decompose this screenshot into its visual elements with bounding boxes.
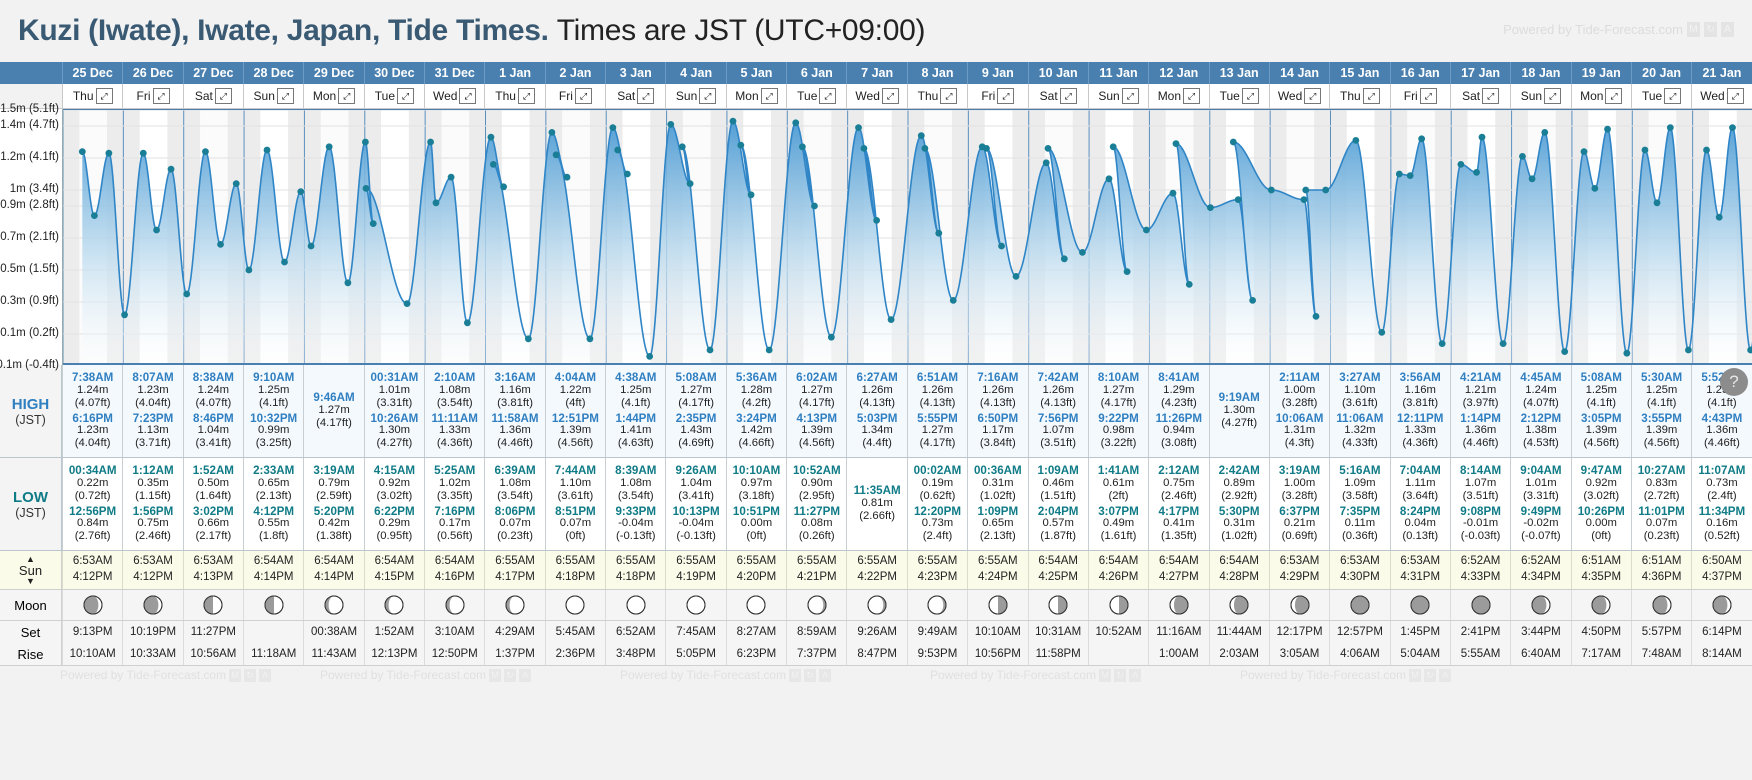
tide-height-ft: (-0.07ft)	[1511, 530, 1570, 543]
moonset-cell: 9:49AM	[907, 621, 967, 643]
moon-phase-icon	[504, 594, 526, 616]
date-cell[interactable]: 9 Jan	[967, 62, 1027, 84]
tide-extreme-point	[873, 217, 880, 224]
sunset-time: 4:35PM	[1572, 570, 1631, 586]
tide-extreme-point	[766, 347, 773, 354]
high-tide-cell: 9:46AM1.27m(4.17ft)	[303, 365, 363, 457]
expand-day-icon[interactable]: ⤢	[1242, 88, 1259, 104]
tide-time: 11:27PM	[787, 505, 846, 518]
day-cell[interactable]: Thu⤢	[1329, 84, 1389, 108]
day-cell[interactable]: Fri⤢	[967, 84, 1027, 108]
sun-cell: 6:54AM4:15PM	[364, 551, 424, 589]
moonrise-cell: 6:23PM	[726, 643, 786, 665]
day-cell[interactable]: Tue⤢	[364, 84, 424, 108]
sun-cell: 6:54AM4:26PM	[1088, 551, 1148, 589]
low-tide-cell: 1:41AM0.61m(2ft)3:07PM0.49m(1.61ft)	[1088, 458, 1148, 550]
tide-height-m: 1.01m	[1511, 477, 1570, 490]
tide-event: 4:21AM1.21m(3.97ft)	[1451, 370, 1510, 410]
moonrise-cell: 5:05PM	[665, 643, 725, 665]
sunrise-time: 6:54AM	[1210, 554, 1269, 570]
date-cell[interactable]: 16 Jan	[1390, 62, 1450, 84]
moon-cell	[303, 590, 363, 620]
tide-height-m: -0.04m	[606, 517, 665, 530]
day-label: Mon	[1580, 89, 1603, 103]
tide-extreme-point	[1207, 204, 1214, 211]
tide-height-m: 1.07m	[1029, 424, 1088, 437]
sunrise-time: 6:54AM	[304, 554, 363, 570]
date-cell[interactable]: 27 Dec	[183, 62, 243, 84]
tide-time: 1:12AM	[123, 464, 182, 477]
tide-event: 9:47AM0.92m(3.02ft)	[1572, 463, 1631, 503]
tide-height-m: 1.24m	[63, 384, 122, 397]
tide-extreme-point	[587, 335, 594, 342]
day-cell[interactable]: Tue⤢	[786, 84, 846, 108]
sun-cell: 6:51AM4:35PM	[1571, 551, 1631, 589]
expand-day-icon[interactable]: ⤢	[277, 88, 294, 104]
tide-height-m: 1.23m	[63, 424, 122, 437]
tide-time: 7:38AM	[63, 371, 122, 384]
tide-event: 1:41AM0.61m(2ft)	[1089, 463, 1148, 503]
high-tide-cell: 2:11AM1.00m(3.28ft)10:06AM1.31m(4.3ft)	[1269, 365, 1329, 457]
day-cell[interactable]: Wed⤢	[1269, 84, 1329, 108]
high-tide-label-unit: (JST)	[15, 413, 46, 427]
moon-phase-icon	[625, 594, 647, 616]
day-cell[interactable]: Mon⤢	[1571, 84, 1631, 108]
moon-phase-icon	[1590, 594, 1612, 616]
tide-height-m: 0.50m	[184, 477, 243, 490]
tide-height-ft: (3.31ft)	[1511, 490, 1570, 503]
date-cell[interactable]: 21 Jan	[1691, 62, 1751, 84]
tide-extreme-point	[609, 124, 616, 131]
low-tide-cell: 6:39AM1.08m(3.54ft)8:06PM0.07m(0.23ft)	[484, 458, 544, 550]
tide-height-ft: (4.1ft)	[244, 397, 303, 410]
expand-day-icon[interactable]: ⤢	[1727, 88, 1744, 104]
tide-height-ft: (4.04ft)	[123, 397, 182, 410]
tide-extreme-point	[1591, 185, 1598, 192]
day-label: Wed	[1278, 89, 1302, 103]
footer-watermark-text: Powered by Tide-Forecast.com	[1240, 668, 1406, 682]
tide-extreme-point	[217, 241, 224, 248]
day-cell[interactable]: Sat⤢	[183, 84, 243, 108]
day-cell[interactable]: Thu⤢	[62, 84, 122, 108]
tide-event: 8:38AM1.24m(4.07ft)	[184, 370, 243, 410]
tide-time: 10:13PM	[666, 505, 725, 518]
day-cell[interactable]: Thu⤢	[484, 84, 544, 108]
moonset-band: Set 9:13PM10:19PM11:27PM00:38AM1:52AM3:1…	[0, 621, 1752, 643]
date-cell[interactable]: 6 Jan	[786, 62, 846, 84]
tide-height-m: 1.04m	[666, 477, 725, 490]
date-cell[interactable]: 28 Dec	[243, 62, 303, 84]
footer-watermark-icon-2: ↻	[244, 669, 256, 682]
tide-extreme-point	[614, 147, 621, 154]
expand-day-icon[interactable]: ⤢	[1664, 88, 1681, 104]
high-tide-cell: 7:16AM1.26m(4.13ft)6:50PM1.17m(3.84ft)	[967, 365, 1027, 457]
tide-extreme-point	[1654, 199, 1661, 206]
tide-event: 2:42AM0.89m(2.92ft)	[1210, 463, 1269, 503]
sunrise-time: 6:54AM	[1149, 554, 1208, 570]
sunset-time: 4:14PM	[244, 570, 303, 586]
tide-height-m: 1.36m	[1692, 424, 1751, 437]
day-cell[interactable]: Sat⤢	[605, 84, 665, 108]
tide-height-ft: (4.04ft)	[63, 437, 122, 450]
moonset-cell: 6:14PM	[1691, 621, 1751, 643]
tide-height-m: 0.98m	[1089, 424, 1148, 437]
tide-forecast-page: Kuzi (Iwate), Iwate, Japan, Tide Times. …	[0, 0, 1752, 780]
tide-height-m: 1.09m	[1330, 477, 1389, 490]
day-cell[interactable]: Fri⤢	[545, 84, 605, 108]
tide-event: 6:39AM1.08m(3.54ft)	[485, 463, 544, 503]
date-cells: 25 Dec26 Dec27 Dec28 Dec29 Dec30 Dec31 D…	[62, 62, 1752, 84]
sunset-time: 4:24PM	[968, 570, 1027, 586]
tide-time: 9:49PM	[1511, 505, 1570, 518]
sun-cell: 6:53AM4:12PM	[62, 551, 122, 589]
tide-event: 5:30AM1.25m(4.1ft)	[1632, 370, 1691, 410]
sun-cell: 6:53AM4:12PM	[122, 551, 182, 589]
tide-extreme-point	[500, 183, 507, 190]
sun-cell: 6:55AM4:23PM	[907, 551, 967, 589]
expand-day-icon[interactable]: ⤢	[761, 88, 778, 104]
tide-height-m: 0.57m	[1029, 517, 1088, 530]
tide-time: 12:11PM	[1391, 412, 1450, 425]
tide-height-ft: (3.25ft)	[244, 437, 303, 450]
expand-day-icon[interactable]: ⤢	[699, 88, 716, 104]
tide-time: 3:56AM	[1391, 371, 1450, 384]
date-cell[interactable]: 1 Jan	[484, 62, 544, 84]
moonset-cell: 5:57PM	[1631, 621, 1691, 643]
tide-height-m: 0.65m	[968, 517, 1027, 530]
day-label: Tue	[1642, 89, 1662, 103]
day-cell[interactable]: Tue⤢	[1631, 84, 1691, 108]
tide-height-ft: (4.13ft)	[908, 397, 967, 410]
tide-height-m: 1.33m	[425, 424, 484, 437]
tide-extreme-point	[553, 151, 560, 158]
tide-event: 3:24PM1.42m(4.66ft)	[727, 411, 786, 451]
moon-phase-icon	[1168, 594, 1190, 616]
moonrise-cell: 6:40AM	[1510, 643, 1570, 665]
footer-watermark-icon-3: A	[819, 669, 831, 682]
tide-event: 12:11PM1.33m(4.36ft)	[1391, 411, 1450, 451]
tide-time: 9:46AM	[304, 391, 363, 404]
sun-cell: 6:55AM4:18PM	[605, 551, 665, 589]
tide-extreme-point	[624, 171, 631, 178]
day-label: Sun	[676, 89, 697, 103]
tide-event: 3:05PM1.39m(4.56ft)	[1572, 411, 1631, 451]
tide-height-ft: (0.56ft)	[425, 530, 484, 543]
moonrise-cell: 10:56AM	[183, 643, 243, 665]
moonrise-cell: 2:36PM	[545, 643, 605, 665]
sun-cell: 6:55AM4:20PM	[726, 551, 786, 589]
sun-cell: 6:50AM4:37PM	[1691, 551, 1751, 589]
tide-height-m: 0.83m	[1632, 477, 1691, 490]
day-label: Fri	[981, 89, 995, 103]
tide-extreme-point	[799, 143, 806, 150]
expand-day-icon[interactable]: ⤢	[940, 88, 957, 104]
expand-day-icon[interactable]: ⤢	[819, 88, 836, 104]
date-cell[interactable]: 10 Jan	[1028, 62, 1088, 84]
moonrise-cell: 3:05AM	[1269, 643, 1329, 665]
expand-day-icon[interactable]: ⤢	[215, 88, 232, 104]
date-cell[interactable]: 8 Jan	[907, 62, 967, 84]
day-cell[interactable]: Wed⤢	[846, 84, 906, 108]
high-tide-cell: 5:30AM1.25m(4.1ft)3:55PM1.39m(4.56ft)	[1631, 365, 1691, 457]
date-cell[interactable]: 3 Jan	[605, 62, 665, 84]
expand-day-icon[interactable]: ⤢	[338, 88, 355, 104]
date-cell[interactable]: 17 Jan	[1450, 62, 1510, 84]
moon-phase-icon	[564, 594, 586, 616]
tide-time: 10:52AM	[787, 464, 846, 477]
day-cell[interactable]: Sat⤢	[1028, 84, 1088, 108]
date-cell[interactable]: 2 Jan	[545, 62, 605, 84]
tide-extreme-point	[1143, 227, 1150, 234]
moon-cell	[1269, 590, 1329, 620]
expand-day-icon[interactable]: ⤢	[1304, 88, 1321, 104]
date-cell[interactable]: 19 Jan	[1571, 62, 1631, 84]
tide-event: 9:22PM0.98m(3.22ft)	[1089, 411, 1148, 451]
tide-event: 10:26PM0.00m(0ft)	[1572, 504, 1631, 544]
date-cell[interactable]: 26 Dec	[122, 62, 182, 84]
expand-day-icon[interactable]: ⤢	[397, 88, 414, 104]
tide-extreme-point	[1106, 175, 1113, 182]
tide-event: 7:42AM1.26m(4.13ft)	[1029, 370, 1088, 410]
tide-height-ft: (3.28ft)	[1270, 490, 1329, 503]
tide-height-m: 0.79m	[304, 477, 363, 490]
day-cell[interactable]: Tue⤢	[1209, 84, 1269, 108]
tide-extreme-point	[183, 291, 190, 298]
day-cell[interactable]: Fri⤢	[1390, 84, 1450, 108]
day-cell[interactable]: Mon⤢	[303, 84, 363, 108]
tide-time: 4:04AM	[546, 371, 605, 384]
date-cell[interactable]: 7 Jan	[846, 62, 906, 84]
tide-time: 1:14PM	[1451, 412, 1510, 425]
tide-height-m: 0.89m	[1210, 477, 1269, 490]
expand-day-icon[interactable]: ⤢	[1420, 88, 1437, 104]
tide-height-ft: (2.46ft)	[123, 530, 182, 543]
tide-extreme-point	[1479, 134, 1486, 141]
tide-height-m: 0.92m	[1572, 477, 1631, 490]
watermark-icon-1: M	[1687, 22, 1700, 37]
tide-time: 5:08AM	[1572, 371, 1631, 384]
day-cell[interactable]: Sun⤢	[243, 84, 303, 108]
high-tide-band: HIGH (JST) 7:38AM1.24m(4.07ft)6:16PM1.23…	[0, 365, 1752, 458]
tide-extreme-point	[1729, 124, 1736, 131]
tide-height-ft: (4.56ft)	[787, 437, 846, 450]
expand-day-icon[interactable]: ⤢	[96, 88, 113, 104]
sun-cell: 6:55AM4:22PM	[846, 551, 906, 589]
tide-extreme-point	[922, 145, 929, 152]
sun-label: ▲ Sun ▼	[0, 551, 62, 589]
date-cell[interactable]: 14 Jan	[1269, 62, 1329, 84]
date-cell[interactable]: 18 Jan	[1510, 62, 1570, 84]
expand-day-icon[interactable]: ⤢	[459, 88, 476, 104]
expand-day-icon[interactable]: ⤢	[518, 88, 535, 104]
tide-event: 6:50PM1.17m(3.84ft)	[968, 411, 1027, 451]
moonrise-cell: 10:33AM	[122, 643, 182, 665]
low-tide-cell: 7:44AM1.10m(3.61ft)8:51PM0.07m(0ft)	[545, 458, 605, 550]
tide-extreme-point	[363, 185, 370, 192]
expand-day-icon[interactable]: ⤢	[997, 88, 1014, 104]
tide-height-ft: (-0.13ft)	[606, 530, 665, 543]
moon-phase-icon	[263, 594, 285, 616]
moonrise-cell: 7:37PM	[786, 643, 846, 665]
tide-height-ft: (0.23ft)	[1632, 530, 1691, 543]
sunrise-time: 6:55AM	[727, 554, 786, 570]
expand-day-icon[interactable]: ⤢	[575, 88, 592, 104]
day-cell[interactable]: Wed⤢	[424, 84, 484, 108]
date-cell[interactable]: 15 Jan	[1329, 62, 1389, 84]
date-cell[interactable]: 13 Jan	[1209, 62, 1269, 84]
expand-day-icon[interactable]: ⤢	[1544, 88, 1561, 104]
tide-time: 1:56PM	[123, 505, 182, 518]
tide-event: 10:06AM1.31m(4.3ft)	[1270, 411, 1329, 451]
tide-height-ft: (2.95ft)	[787, 490, 846, 503]
tide-height-m: 0.11m	[1330, 517, 1389, 530]
tide-time: 7:44AM	[546, 464, 605, 477]
date-cell[interactable]: 30 Dec	[364, 62, 424, 84]
tide-height-ft: (3.28ft)	[1270, 397, 1329, 410]
day-cell[interactable]: Sat⤢	[1450, 84, 1510, 108]
expand-day-icon[interactable]: ⤢	[882, 88, 899, 104]
tide-event: 8:39AM1.08m(3.54ft)	[606, 463, 665, 503]
sunrise-time: 6:55AM	[847, 554, 906, 570]
expand-day-icon[interactable]: ⤢	[153, 88, 170, 104]
high-tide-cell: 4:21AM1.21m(3.97ft)1:14PM1.36m(4.46ft)	[1450, 365, 1510, 457]
moonset-cell: 1:52AM	[364, 621, 424, 643]
tide-extreme-point	[1667, 124, 1674, 131]
tide-extreme-point	[168, 166, 175, 173]
tide-extreme-point	[918, 132, 925, 139]
tide-height-ft: (2.17ft)	[184, 530, 243, 543]
tide-time: 11:07AM	[1692, 464, 1751, 477]
date-cell[interactable]: 29 Dec	[303, 62, 363, 84]
sunrise-time: 6:55AM	[908, 554, 967, 570]
expand-day-icon[interactable]: ⤢	[1605, 88, 1622, 104]
sunset-time: 4:30PM	[1330, 570, 1389, 586]
moon-phase-icon	[1409, 594, 1431, 616]
tide-extreme-point	[1623, 350, 1630, 357]
day-label: Fri	[137, 89, 151, 103]
tide-height-ft: (1.02ft)	[1210, 530, 1269, 543]
expand-day-icon[interactable]: ⤢	[1122, 88, 1139, 104]
sun-cell: 6:55AM4:19PM	[665, 551, 725, 589]
tide-extreme-point	[1045, 145, 1052, 152]
date-cell[interactable]: 31 Dec	[424, 62, 484, 84]
day-cell[interactable]: Sun⤢	[665, 84, 725, 108]
tide-time: 5:36AM	[727, 371, 786, 384]
help-badge-icon[interactable]: ?	[1720, 368, 1748, 396]
low-tide-cell: 9:47AM0.92m(3.02ft)10:26PM0.00m(0ft)	[1571, 458, 1631, 550]
expand-day-icon[interactable]: ⤢	[1060, 88, 1077, 104]
day-cell[interactable]: Mon⤢	[726, 84, 786, 108]
sun-cell: 6:53AM4:30PM	[1329, 551, 1389, 589]
day-cell[interactable]: Thu⤢	[907, 84, 967, 108]
expand-day-icon[interactable]: ⤢	[1363, 88, 1380, 104]
sun-cell: 6:54AM4:25PM	[1028, 551, 1088, 589]
tide-height-m: 1.39m	[1572, 424, 1631, 437]
date-cell[interactable]: 25 Dec	[62, 62, 122, 84]
low-tide-cell: 00:36AM0.31m(1.02ft)1:09PM0.65m(2.13ft)	[967, 458, 1027, 550]
tide-extreme-point	[1124, 268, 1131, 275]
tide-time: 2:11AM	[1270, 371, 1329, 384]
expand-day-icon[interactable]: ⤢	[637, 88, 654, 104]
tide-extreme-point	[564, 174, 571, 181]
tide-height-ft: (4.53ft)	[1511, 437, 1570, 450]
low-tide-cell: 9:26AM1.04m(3.41ft)10:13PM-0.04m(-0.13ft…	[665, 458, 725, 550]
day-cell[interactable]: Sun⤢	[1088, 84, 1148, 108]
date-cell[interactable]: 5 Jan	[726, 62, 786, 84]
sunrise-time: 6:53AM	[1391, 554, 1450, 570]
tide-height-m: 0.29m	[365, 517, 424, 530]
day-cell[interactable]: Sun⤢	[1510, 84, 1570, 108]
tide-height-ft: (0.23ft)	[485, 530, 544, 543]
tide-extreme-point	[1249, 297, 1256, 304]
date-cell[interactable]: 12 Jan	[1148, 62, 1208, 84]
date-cell[interactable]: 4 Jan	[665, 62, 725, 84]
moon-cell	[1390, 590, 1450, 620]
tide-event: 2:12AM0.75m(2.46ft)	[1149, 463, 1208, 503]
sunrise-time: 6:54AM	[425, 554, 484, 570]
tide-height-m: 1.10m	[1330, 384, 1389, 397]
chart-y-axis: 1.5m (5.1ft)1.4m (4.7ft)1.2m (4.1ft)1m (…	[0, 109, 63, 365]
moonset-cell: 11:27PM	[183, 621, 243, 643]
tide-height-m: 1.11m	[1391, 477, 1450, 490]
high-tide-cell: 5:08AM1.25m(4.1ft)3:05PM1.39m(4.56ft)	[1571, 365, 1631, 457]
tide-event: 12:20PM0.73m(2.4ft)	[908, 504, 967, 544]
tide-height-ft: (3.81ft)	[485, 397, 544, 410]
chart-plot-area[interactable]	[63, 109, 1752, 365]
tide-extreme-point	[233, 180, 240, 187]
day-label: Sat	[1462, 89, 1480, 103]
tide-extreme-point	[861, 145, 868, 152]
tide-event: 10:52AM0.90m(2.95ft)	[787, 463, 846, 503]
tide-event: 2:12PM1.38m(4.53ft)	[1511, 411, 1570, 451]
moonrise-cell: 10:56PM	[967, 643, 1027, 665]
moon-phase-cells	[62, 590, 1752, 620]
sun-cell: 6:54AM4:14PM	[243, 551, 303, 589]
tide-event: 3:16AM1.16m(3.81ft)	[485, 370, 544, 410]
tide-extreme-point	[121, 311, 128, 318]
tide-height-ft: (4.1ft)	[1692, 397, 1751, 410]
tide-time: 5:30AM	[1632, 371, 1691, 384]
moonset-cell: 1:45PM	[1390, 621, 1450, 643]
day-cell[interactable]: Fri⤢	[122, 84, 182, 108]
day-cell[interactable]: Wed⤢	[1691, 84, 1751, 108]
tide-height-m: 0.42m	[304, 517, 363, 530]
tide-height-m: 1.39m	[787, 424, 846, 437]
expand-day-icon[interactable]: ⤢	[1482, 88, 1499, 104]
tide-time: 2:12AM	[1149, 464, 1208, 477]
tide-height-ft: (2.59ft)	[304, 490, 363, 503]
date-cell[interactable]: 20 Jan	[1631, 62, 1691, 84]
tide-height-m: 1.16m	[485, 384, 544, 397]
sun-cell: 6:55AM4:24PM	[967, 551, 1027, 589]
tide-time: 12:20PM	[908, 505, 967, 518]
tide-event: 8:10AM1.27m(4.17ft)	[1089, 370, 1148, 410]
tide-height-ft: (1.64ft)	[184, 490, 243, 503]
sun-cell: 6:55AM4:18PM	[545, 551, 605, 589]
footer-watermark-icon-3: A	[259, 669, 271, 682]
date-cell[interactable]: 11 Jan	[1088, 62, 1148, 84]
tide-height-m: 1.26m	[968, 384, 1027, 397]
tide-height-ft: (4.17ft)	[304, 417, 363, 430]
powered-by-watermark: Powered by Tide-Forecast.com M ↻ A	[1503, 22, 1734, 37]
watermark-icon-3: A	[1721, 22, 1734, 37]
tide-time: 3:24PM	[727, 412, 786, 425]
tide-event: 8:06PM0.07m(0.23ft)	[485, 504, 544, 544]
tide-height-ft: (0.36ft)	[1330, 530, 1389, 543]
date-row-spacer	[0, 62, 62, 84]
expand-day-icon[interactable]: ⤢	[1183, 88, 1200, 104]
day-cell[interactable]: Mon⤢	[1148, 84, 1208, 108]
